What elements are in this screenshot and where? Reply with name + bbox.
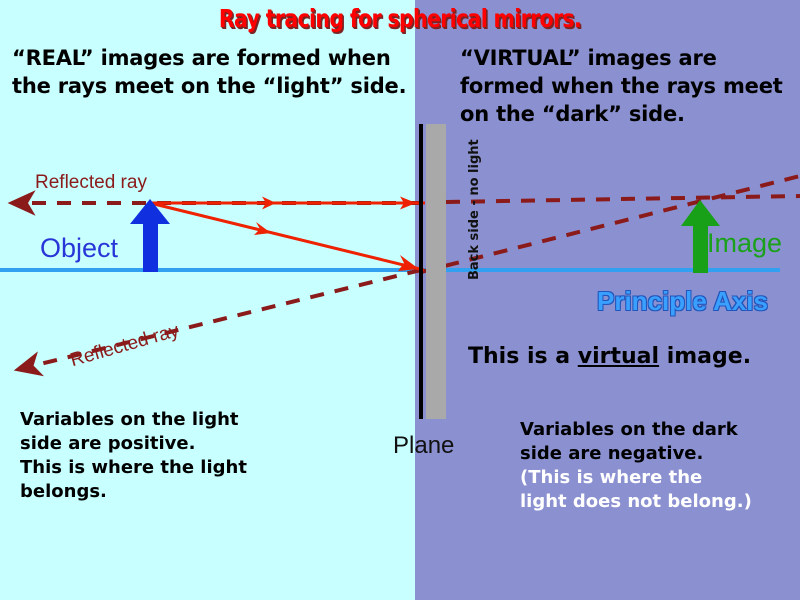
light-side-note-line-2: side are positive. [20,432,350,456]
reflected-ray-top-label: Reflected ray [35,172,147,194]
slide-canvas: Ray tracing for spherical mirrors. “REAL… [0,0,800,600]
object-arrow [130,199,170,272]
dark-side-note-line-2: side are negative. [520,442,800,466]
object-label: Object [40,233,118,264]
mirror-surface-line [419,124,423,419]
light-side-note-line-4: belongs. [20,480,350,504]
mirror-back-side-label: Back side - no light [467,130,485,280]
mirror-back-band [426,124,446,419]
plane-mirror-label: Plane [393,432,454,460]
light-side-note-line-1: Variables on the light [20,408,350,432]
virtual-ray-horizontal-right [446,196,800,202]
virtual-statement-keyword: virtual [578,344,659,369]
light-side-note-line-3: This is where the light [20,456,350,480]
dark-side-note-line-4: light does not belong.) [520,490,800,514]
virtual-image-statement: This is a virtual image. [468,342,768,371]
dark-side-note: Variables on the dark side are negative.… [520,418,800,514]
light-side-note: Variables on the light side are positive… [20,408,350,504]
virtual-statement-prefix: This is a [468,344,578,369]
image-label: Image [707,228,782,259]
principle-axis-label: Principle Axis [597,286,768,317]
dark-side-note-line-3: (This is where the [520,466,800,490]
virtual-statement-suffix: image. [659,344,751,369]
incident-ray-oblique [150,203,424,270]
dark-side-note-line-1: Variables on the dark [520,418,800,442]
